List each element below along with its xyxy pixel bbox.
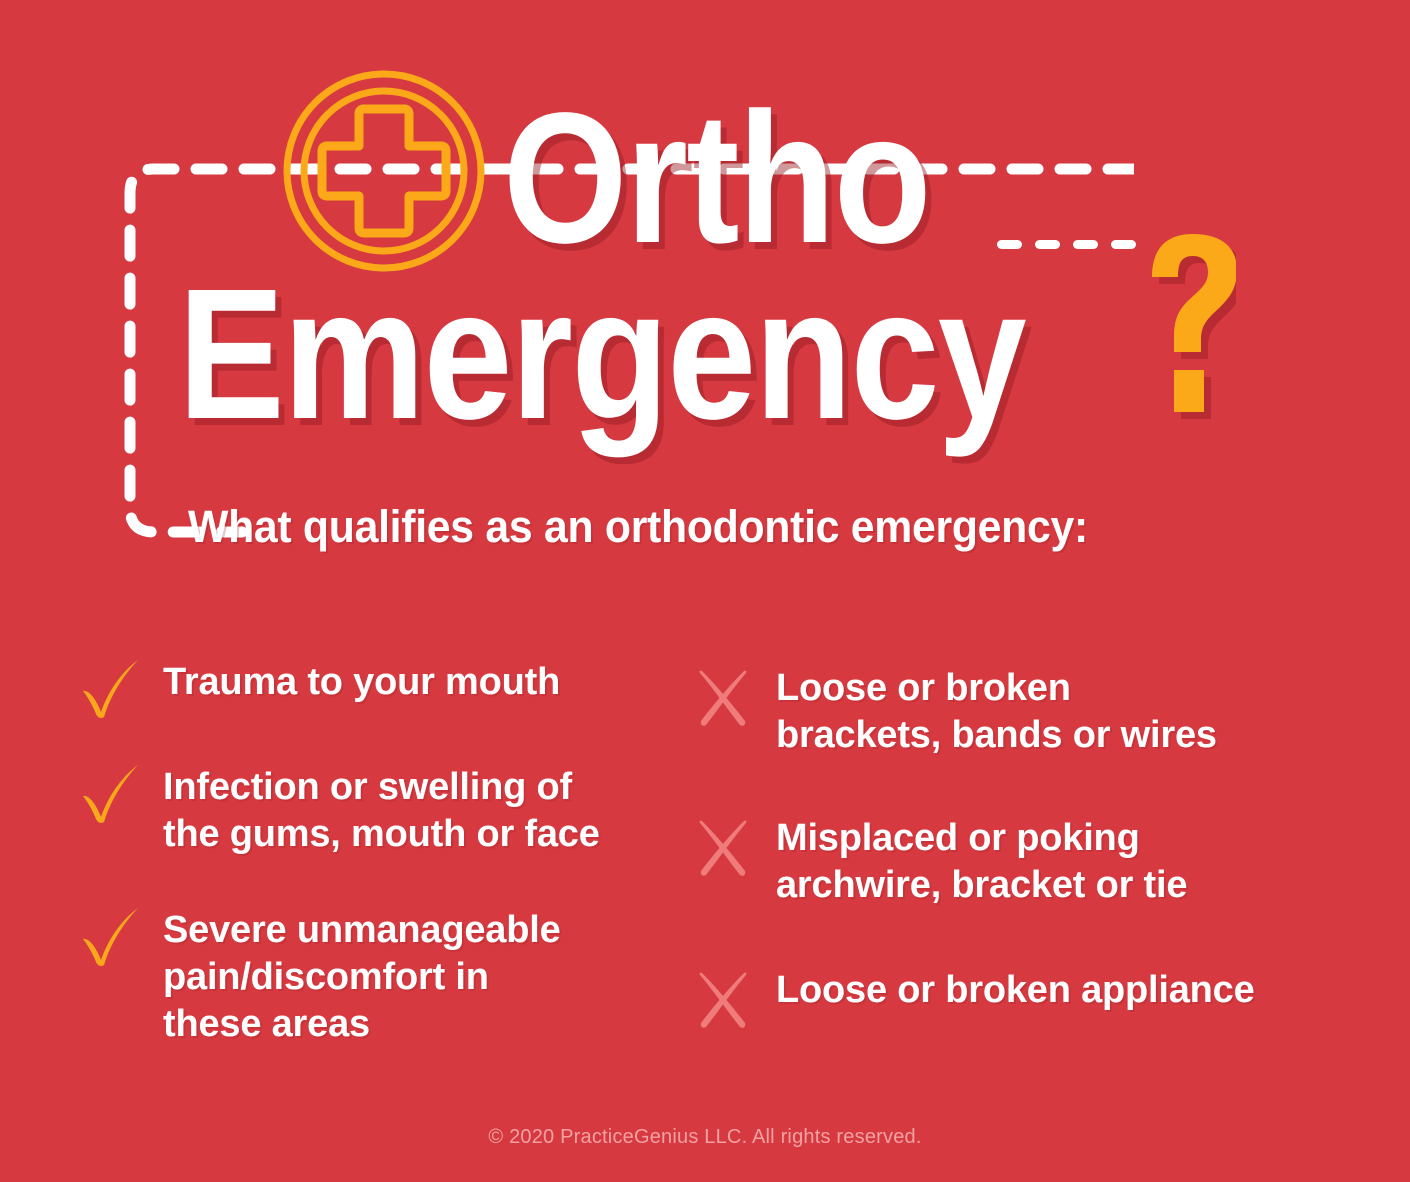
title-dash	[1073, 240, 1098, 249]
list-item-label: Severe unmanageable pain/discomfort in t…	[163, 903, 561, 1048]
criteria-columns: Trauma to your mouth Infection or swelli…	[0, 655, 1410, 1095]
list-item-label: Trauma to your mouth	[163, 655, 560, 706]
copyright-footer: © 2020 PracticeGenius LLC. All rights re…	[0, 1124, 1410, 1150]
medical-cross-circle-icon	[281, 68, 487, 274]
list-item: Loose or broken brackets, bands or wires	[688, 663, 1217, 759]
question-mark-icon	[1146, 228, 1236, 423]
title-dash	[1035, 240, 1060, 249]
infographic-poster: Ortho Emergency What qualifies as an ort…	[0, 0, 1410, 1182]
list-item: Misplaced or poking archwire, bracket or…	[688, 813, 1187, 909]
x-icon	[688, 965, 760, 1037]
list-item: Loose or broken appliance	[688, 965, 1255, 1037]
check-icon	[75, 903, 147, 975]
title-dash-run	[997, 240, 1136, 249]
list-item-label: Loose or broken appliance	[776, 965, 1255, 1014]
title-dash	[1111, 240, 1136, 249]
title-dash	[997, 240, 1022, 249]
list-item-label: Infection or swelling of the gums, mouth…	[163, 760, 600, 858]
list-item: Infection or swelling of the gums, mouth…	[75, 760, 600, 858]
x-icon	[688, 813, 760, 885]
poster-header: Ortho Emergency What qualifies as an ort…	[0, 0, 1410, 580]
list-item-label: Misplaced or poking archwire, bracket or…	[776, 813, 1187, 909]
check-icon	[75, 655, 147, 727]
title-line-ortho: Ortho	[503, 86, 930, 272]
list-item: Severe unmanageable pain/discomfort in t…	[75, 903, 561, 1048]
check-icon	[75, 760, 147, 832]
list-item: Trauma to your mouth	[75, 655, 560, 727]
subtitle: What qualifies as an orthodontic emergen…	[188, 500, 1088, 554]
title-line-emergency: Emergency	[178, 262, 1025, 448]
list-item-label: Loose or broken brackets, bands or wires	[776, 663, 1217, 759]
x-icon	[688, 663, 760, 735]
